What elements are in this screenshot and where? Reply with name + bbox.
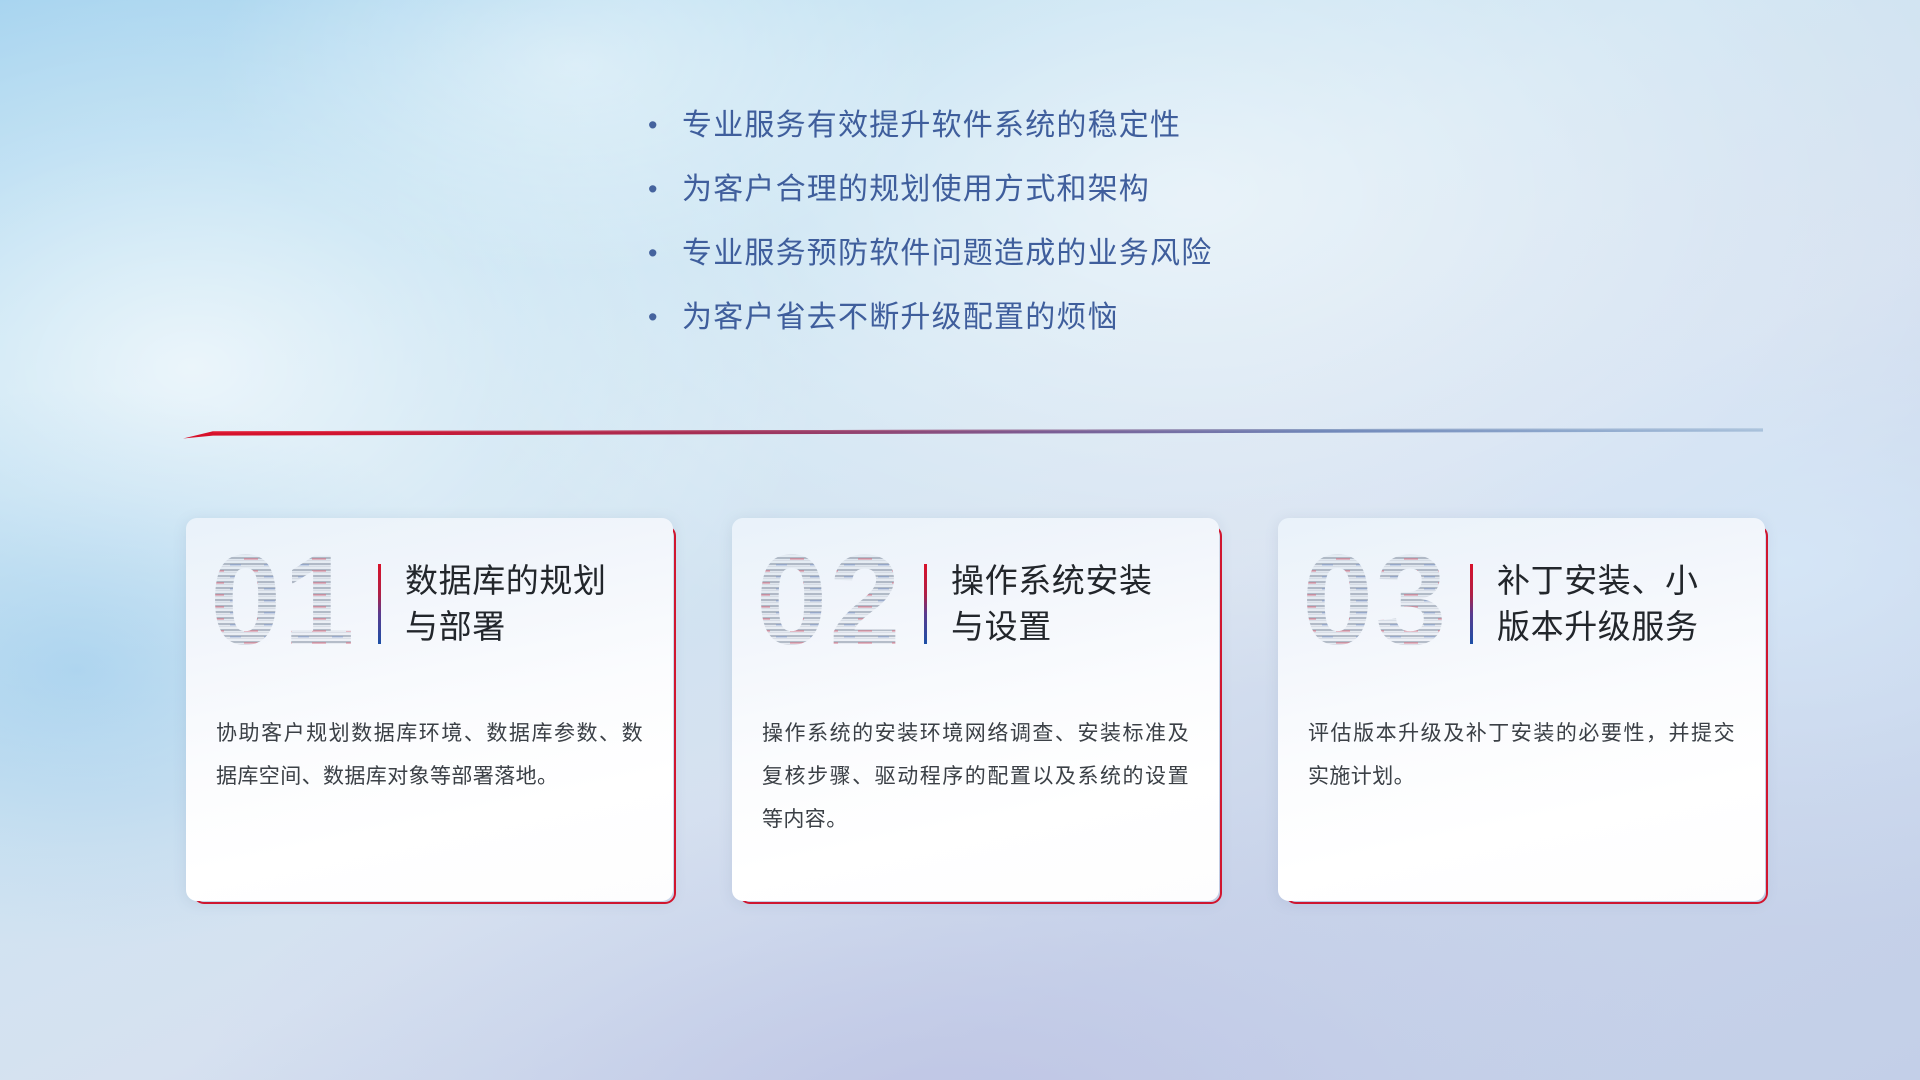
card-header: 01 数据库的规划与部署 (186, 518, 673, 690)
card-title-line: 与部署 (405, 608, 506, 645)
card-title-rule (378, 564, 381, 644)
list-item: • 为客户省去不断升级配置的烦恼 (648, 296, 1212, 360)
card-title: 补丁安装、小版本升级服务 (1497, 558, 1699, 650)
card-number-watermark: 02 (756, 545, 912, 663)
card-header: 03 补丁安装、小版本升级服务 (1278, 518, 1765, 690)
benefits-bullet-list: • 专业服务有效提升软件系统的稳定性 • 为客户合理的规划使用方式和架构 • 专… (648, 104, 1212, 360)
service-card[interactable]: 02 操作系统安装与设置 操作系统的安装环境网络调查、安装标准及复核步骤、驱动程… (732, 518, 1219, 901)
bullet-text: 专业服务有效提升软件系统的稳定性 (682, 104, 1181, 147)
card-title-rule (924, 564, 927, 644)
card-title-line: 与设置 (951, 608, 1052, 645)
card-title-line: 版本升级服务 (1497, 608, 1699, 645)
bullet-dot-icon: • (648, 104, 682, 147)
list-item: • 专业服务预防软件问题造成的业务风险 (648, 232, 1212, 296)
card-description: 协助客户规划数据库环境、数据库参数、数据库空间、数据库对象等部署落地。 (216, 712, 643, 798)
card-description: 操作系统的安装环境网络调查、安装标准及复核步骤、驱动程序的配置以及系统的设置等内… (762, 712, 1189, 841)
bullet-text: 专业服务预防软件问题造成的业务风险 (682, 232, 1212, 275)
bullet-dot-icon: • (648, 296, 682, 339)
card-number-watermark: 03 (1302, 545, 1458, 663)
card-number-watermark: 01 (210, 545, 366, 663)
list-item: • 专业服务有效提升软件系统的稳定性 (648, 104, 1212, 168)
card-title-line: 数据库的规划 (405, 562, 607, 599)
card-title: 数据库的规划与部署 (405, 558, 607, 650)
card-description: 评估版本升级及补丁安装的必要性，并提交实施计划。 (1308, 712, 1735, 798)
card-title: 操作系统安装与设置 (951, 558, 1153, 650)
card-surface: 03 补丁安装、小版本升级服务 评估版本升级及补丁安装的必要性，并提交实施计划。 (1278, 518, 1765, 901)
bullet-dot-icon: • (648, 168, 682, 211)
card-surface: 01 数据库的规划与部署 协助客户规划数据库环境、数据库参数、数据库空间、数据库… (186, 518, 673, 901)
card-surface: 02 操作系统安装与设置 操作系统的安装环境网络调查、安装标准及复核步骤、驱动程… (732, 518, 1219, 901)
card-title-line: 补丁安装、小 (1497, 562, 1699, 599)
card-title-line: 操作系统安装 (951, 562, 1153, 599)
service-card[interactable]: 01 数据库的规划与部署 协助客户规划数据库环境、数据库参数、数据库空间、数据库… (186, 518, 673, 901)
bullet-text: 为客户合理的规划使用方式和架构 (682, 168, 1150, 211)
list-item: • 为客户合理的规划使用方式和架构 (648, 168, 1212, 232)
bullet-text: 为客户省去不断升级配置的烦恼 (682, 296, 1119, 339)
bullet-dot-icon: • (648, 232, 682, 275)
service-card-list: 01 数据库的规划与部署 协助客户规划数据库环境、数据库参数、数据库空间、数据库… (186, 518, 1765, 901)
card-title-rule (1470, 564, 1473, 644)
service-card[interactable]: 03 补丁安装、小版本升级服务 评估版本升级及补丁安装的必要性，并提交实施计划。 (1278, 518, 1765, 901)
card-header: 02 操作系统安装与设置 (732, 518, 1219, 690)
section-divider (183, 424, 1763, 441)
divider-line-icon (183, 424, 1763, 441)
